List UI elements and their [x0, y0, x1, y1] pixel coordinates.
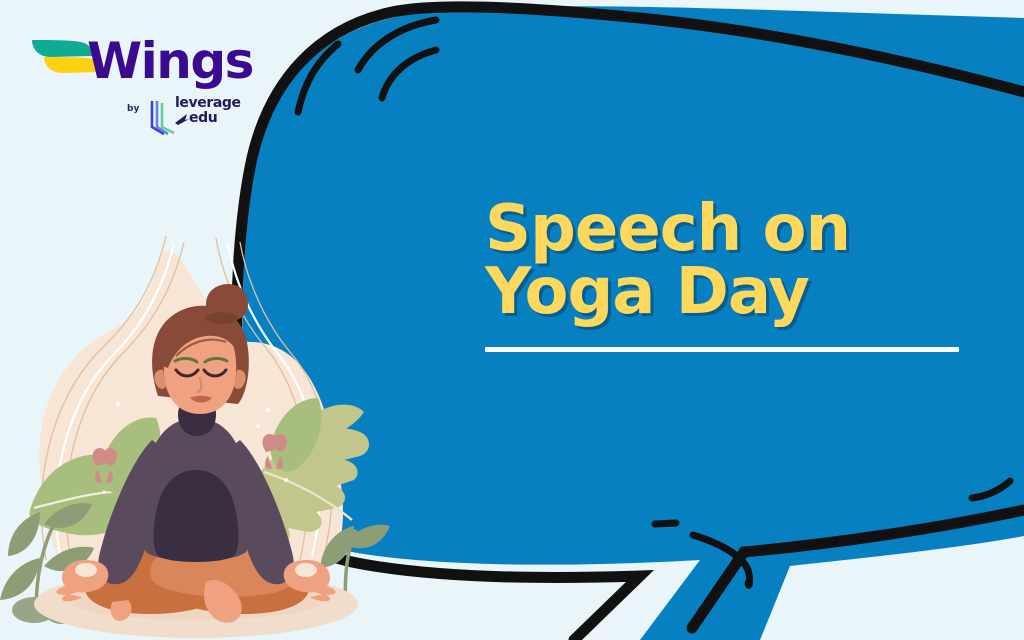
leverage-edu-sublogo[interactable]: by leverage edu [127, 94, 262, 139]
wings-logo[interactable]: Wings by leverage edu [30, 32, 260, 142]
title-underline [485, 347, 959, 352]
title-line-2: Yoga Day [485, 261, 975, 324]
poster-title: Speech on Yoga Day [485, 198, 975, 323]
leverage-label: leverage [175, 96, 241, 111]
wing-top-shape [32, 40, 92, 57]
by-label: by [127, 104, 139, 114]
wings-wordmark: Wings [87, 36, 253, 86]
edu-label: edu [189, 111, 217, 126]
poster-canvas: Wings by leverage edu Speech on Yoga Day [0, 0, 1024, 640]
title-line-1: Speech on [485, 198, 975, 261]
rocket-arrow-icon [173, 112, 191, 126]
